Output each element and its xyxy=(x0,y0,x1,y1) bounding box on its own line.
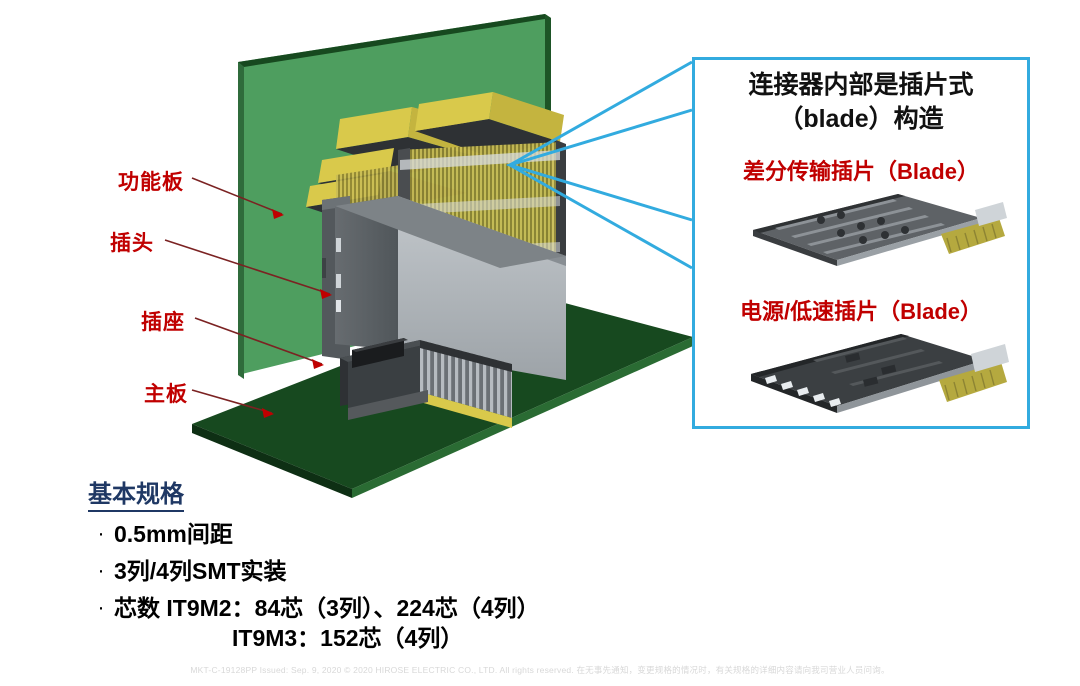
footer-legal-text: MKT-C-19128PP Issued: Sep. 9, 2020 © 202… xyxy=(0,664,1080,676)
differential-blade-art xyxy=(713,188,1013,274)
spec-item-pincount: · 芯数 IT9M2：84芯（3列）、224芯（4列） IT9M3：152芯（4… xyxy=(88,593,728,653)
label-receptacle: 插座 xyxy=(141,306,185,336)
spec-item-smt: · 3列/4列SMT实装 xyxy=(88,556,728,586)
label-function-board: 功能板 xyxy=(118,166,184,196)
spec-heading: 基本规格 xyxy=(88,474,184,512)
basic-spec-block: 基本规格 · 0.5mm间距 · 3列/4列SMT实装 · 芯数 IT9M2：8… xyxy=(88,474,728,653)
differential-blade-title: 差分传输插片（Blade） xyxy=(695,154,1027,186)
label-motherboard: 主板 xyxy=(144,378,188,408)
spec-pincount-group: 芯数 IT9M2：84芯（3列）、224芯（4列） IT9M3：152芯（4列） xyxy=(114,593,540,653)
bullet-icon: · xyxy=(88,593,114,623)
power-blade-title: 电源/低速插片（Blade） xyxy=(695,294,1027,326)
blade-stack-art xyxy=(306,92,566,316)
slide-canvas: 功能板 插头 插座 主板 连接器内部是插片式 （blade）构造 差分传输插片（… xyxy=(0,0,1080,686)
callout-title: 连接器内部是插片式 （blade）构造 xyxy=(695,68,1027,136)
spec-item-label: 芯数 IT9M2：84芯（3列）、224芯（4列） xyxy=(114,593,540,623)
receptacle-art xyxy=(340,338,512,428)
label-plug: 插头 xyxy=(110,227,154,257)
connector-housing-art xyxy=(322,196,566,380)
spec-item-pitch: · 0.5mm间距 xyxy=(88,519,728,549)
bullet-icon: · xyxy=(88,519,114,549)
spec-item-label: 0.5mm间距 xyxy=(114,519,233,549)
spec-item-sublabel: IT9M3：152芯（4列） xyxy=(232,623,540,653)
blade-callout-panel: 连接器内部是插片式 （blade）构造 差分传输插片（Blade） xyxy=(692,57,1030,429)
pointer-arrowheads xyxy=(262,209,332,418)
spec-item-label: 3列/4列SMT实装 xyxy=(114,556,287,586)
callout-leader-lines xyxy=(510,62,692,268)
pointer-arrows xyxy=(165,178,330,413)
power-blade-art xyxy=(713,328,1013,423)
callout-title-line2: （blade）构造 xyxy=(695,102,1027,136)
spec-heading-wrap: 基本规格 xyxy=(88,474,728,512)
bullet-icon: · xyxy=(88,556,114,586)
function-board-art xyxy=(238,14,551,379)
motherboard-art xyxy=(192,293,693,498)
callout-title-line1: 连接器内部是插片式 xyxy=(695,68,1027,102)
